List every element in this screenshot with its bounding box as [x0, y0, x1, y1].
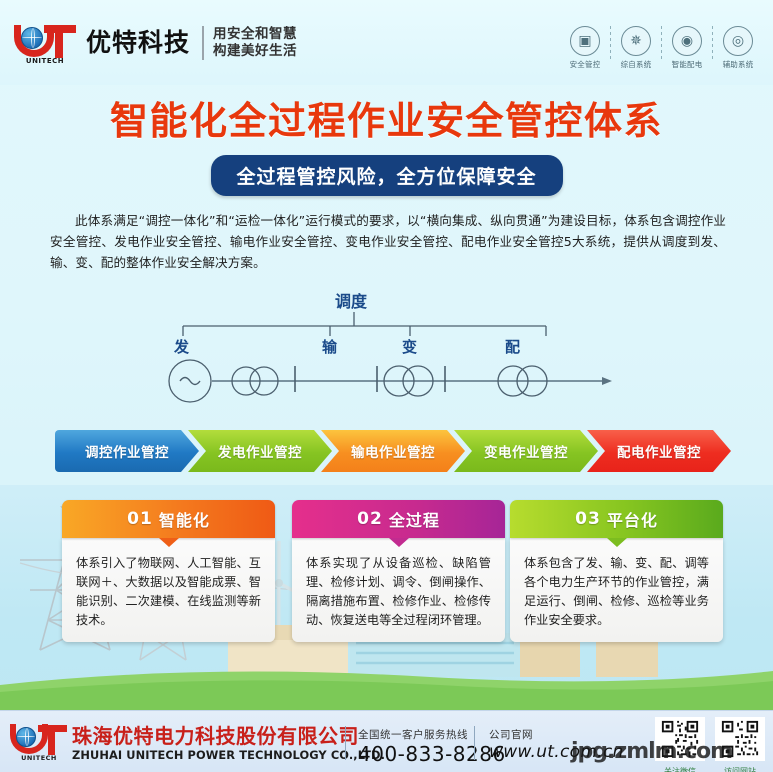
card-header: 01 智能化	[62, 500, 275, 538]
header-icon-smart-distribution[interactable]: ◉ 智能配电	[664, 26, 710, 70]
card-body: 体系包含了发、输、变、配、调等各个电力生产环节的作业管控，满足运行、倒闸、检修、…	[510, 538, 723, 642]
hotline-number[interactable]: 400-833-8286	[358, 742, 506, 766]
poster-canvas: UNITECH 优特科技 用安全和智慧 构建美好生活 ▣ 安全管控 ✵ 综自系统	[0, 0, 773, 772]
header-icon-integrated-automation[interactable]: ✵ 综自系统	[613, 26, 659, 70]
logo-t-shape-icon	[38, 725, 67, 732]
company-name-cn: 珠海优特电力科技股份有限公司	[72, 725, 385, 748]
card-body: 体系引入了物联网、人工智能、互联网＋、大数据以及智能成票、智能识别、二次建模、在…	[62, 538, 275, 642]
logo-divider	[202, 26, 204, 60]
header-icon-divider	[661, 26, 662, 62]
qr-website[interactable]: 访问网站	[715, 717, 765, 772]
feature-card-intelligent[interactable]: 01 智能化 体系引入了物联网、人工智能、互联网＋、大数据以及智能成票、智能识别…	[62, 500, 275, 642]
integrated-automation-icon: ✵	[621, 26, 651, 56]
footer-divider	[345, 726, 346, 760]
brand-name-cn: 优特科技	[86, 23, 190, 63]
slogan-line-2: 构建美好生活	[213, 43, 297, 60]
logo-t-shape-icon	[44, 25, 76, 33]
smart-distribution-icon: ◉	[672, 26, 702, 56]
footer-logo-subtext: UNITECH	[10, 754, 68, 762]
header-icon-safety-control[interactable]: ▣ 安全管控	[562, 26, 608, 70]
diagram-label-distribution: 配	[505, 336, 520, 357]
chevron-dispatch-control[interactable]: 调控作业管控	[55, 430, 199, 472]
globe-icon	[21, 27, 43, 49]
card-title: 平台化	[607, 507, 658, 531]
header-icon-group: ▣ 安全管控 ✵ 综自系统 ◉ 智能配电 ◎ 辅助系统	[562, 26, 761, 70]
page-title: 智能化全过程作业安全管控体系	[0, 90, 773, 145]
header-icon-label: 智能配电	[664, 59, 710, 70]
website-label: 公司官网	[489, 727, 624, 742]
header-icon-auxiliary-system[interactable]: ◎ 辅助系统	[715, 26, 761, 70]
diagram-label-dispatch: 调度	[335, 288, 367, 312]
unitech-logo-icon: UNITECH	[14, 23, 76, 63]
card-header: 03 平台化	[510, 500, 723, 538]
card-number: 03	[575, 509, 601, 529]
intro-paragraph: 此体系满足“调控一体化”和“运检一体化”运行模式的要求，以“横向集成、纵向贯通”…	[50, 210, 726, 273]
power-flow-diagram: 调度 发 输 变 配	[150, 288, 620, 403]
slogan-line-1: 用安全和智慧	[213, 26, 297, 43]
header-icon-divider	[712, 26, 713, 62]
company-name-en: ZHUHAI UNITECH POWER TECHNOLOGY CO.,LTD.	[72, 748, 385, 762]
qr-wechat[interactable]: 关注微信	[655, 717, 705, 772]
header-icon-divider	[610, 26, 611, 62]
footer-company: 珠海优特电力科技股份有限公司 ZHUHAI UNITECH POWER TECH…	[72, 725, 385, 762]
hotline-label: 全国统一客户服务热线	[358, 727, 506, 742]
poster-page: UNITECH 优特科技 用安全和智慧 构建美好生活 ▣ 安全管控 ✵ 综自系统	[0, 0, 773, 772]
diagram-label-substation: 变	[402, 336, 417, 357]
page-footer: UNITECH 珠海优特电力科技股份有限公司 ZHUHAI UNITECH PO…	[0, 710, 773, 772]
diagram-label-generation: 发	[174, 336, 189, 357]
card-title: 智能化	[159, 507, 210, 531]
website-url[interactable]: www.ut.com.cn	[489, 742, 624, 762]
footer-divider	[474, 726, 475, 760]
auxiliary-system-icon: ◎	[723, 26, 753, 56]
card-title: 全过程	[389, 507, 440, 531]
page-subtitle: 全过程管控风险，全方位保障安全	[210, 155, 562, 196]
brand-logo: UNITECH 优特科技 用安全和智慧 构建美好生活	[14, 23, 297, 63]
chevron-transmission-control[interactable]: 输电作业管控	[321, 430, 465, 472]
card-body: 体系实现了从设备巡检、缺陷管理、检修计划、调令、倒闸操作、隔离措施布置、检修作业…	[292, 538, 505, 642]
footer-website: 公司官网 www.ut.com.cn	[489, 727, 624, 762]
chevron-distribution-control[interactable]: 配电作业管控	[587, 430, 731, 472]
footer-hotline: 全国统一客户服务热线 400-833-8286	[358, 727, 506, 766]
diagram-label-transmission: 输	[322, 336, 337, 357]
chevron-generation-control[interactable]: 发电作业管控	[188, 430, 332, 472]
qr-caption: 关注微信	[655, 766, 705, 772]
safety-control-icon: ▣	[570, 26, 600, 56]
footer-logo-icon: UNITECH	[10, 723, 68, 761]
diagram-graphics	[150, 288, 620, 403]
card-number: 01	[127, 509, 153, 529]
feature-card-platform[interactable]: 03 平台化 体系包含了发、输、变、配、调等各个电力生产环节的作业管控，满足运行…	[510, 500, 723, 642]
header-icon-label: 辅助系统	[715, 59, 761, 70]
globe-icon	[16, 727, 36, 747]
footer-qr-codes: 关注微信	[655, 717, 765, 772]
qr-code-icon	[655, 717, 705, 761]
feature-card-full-process[interactable]: 02 全过程 体系实现了从设备巡检、缺陷管理、检修计划、调令、倒闸操作、隔离措施…	[292, 500, 505, 642]
chevron-substation-control[interactable]: 变电作业管控	[454, 430, 598, 472]
process-chevron-bar: 调控作业管控 发电作业管控 输电作业管控 变电作业管控 配电作业管控	[55, 430, 720, 472]
logo-subtext: UNITECH	[14, 57, 76, 65]
qr-code-icon	[715, 717, 765, 761]
feature-cards: 01 智能化 体系引入了物联网、人工智能、互联网＋、大数据以及智能成票、智能识别…	[0, 500, 773, 650]
header-icon-label: 综自系统	[613, 59, 659, 70]
card-number: 02	[357, 509, 383, 529]
header-icon-label: 安全管控	[562, 59, 608, 70]
qr-caption: 访问网站	[715, 766, 765, 772]
page-header: UNITECH 优特科技 用安全和智慧 构建美好生活 ▣ 安全管控 ✵ 综自系统	[0, 0, 773, 85]
card-header: 02 全过程	[292, 500, 505, 538]
brand-slogan: 用安全和智慧 构建美好生活	[213, 26, 297, 60]
